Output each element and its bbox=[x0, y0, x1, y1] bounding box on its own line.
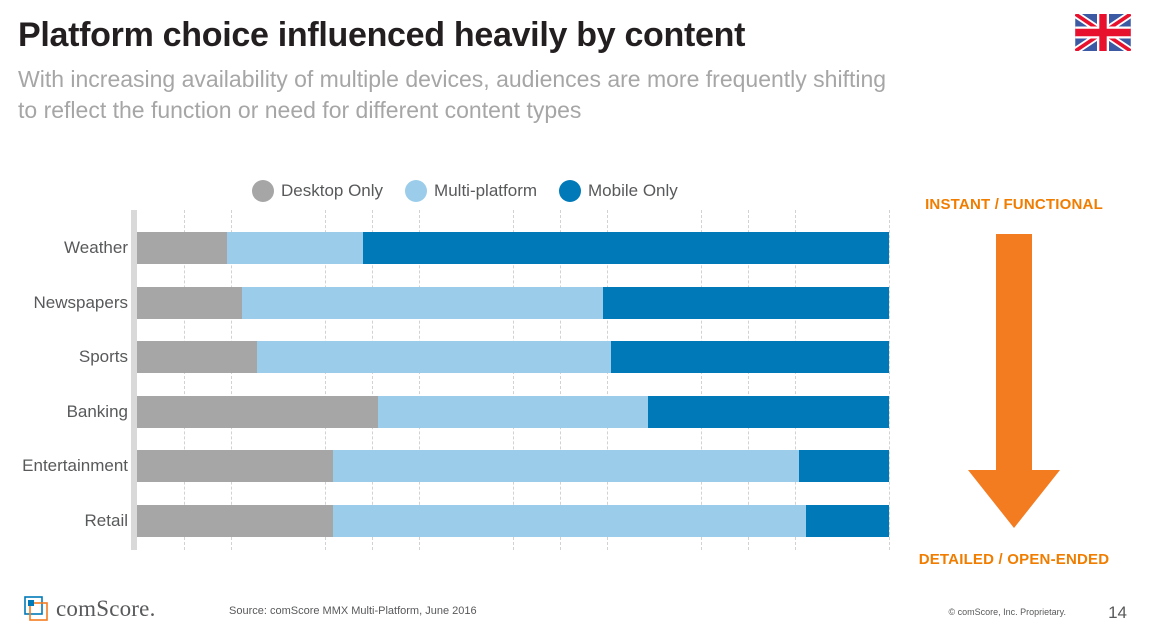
comscore-logo: comScore. bbox=[24, 596, 156, 622]
legend-label-multi-platform: Multi-platform bbox=[434, 181, 537, 201]
bar-segment-desktop-only[interactable] bbox=[137, 232, 227, 264]
bar-segment-multi-platform[interactable] bbox=[242, 287, 603, 319]
y-axis-label-sports: Sports bbox=[0, 347, 128, 367]
annotation-top-label: INSTANT / FUNCTIONAL bbox=[896, 196, 1132, 213]
bar-row bbox=[137, 341, 889, 373]
legend-item-desktop-only[interactable]: Desktop Only bbox=[252, 180, 383, 202]
y-axis-label-weather: Weather bbox=[0, 238, 128, 258]
bar-row bbox=[137, 450, 889, 482]
grid-line bbox=[889, 210, 890, 550]
legend-swatch-multi-platform bbox=[405, 180, 427, 202]
page-subtitle: With increasing availability of multiple… bbox=[18, 64, 1108, 126]
comscore-logo-text: comScore. bbox=[56, 596, 156, 622]
y-axis-label-entertainment: Entertainment bbox=[0, 456, 128, 476]
bar-row bbox=[137, 287, 889, 319]
bar-row bbox=[137, 396, 889, 428]
content-spectrum-annotation: INSTANT / FUNCTIONAL DETAILED / OPEN-END… bbox=[896, 196, 1132, 568]
y-axis-category-labels: WeatherNewspapersSportsBankingEntertainm… bbox=[0, 210, 128, 550]
y-axis-label-banking: Banking bbox=[0, 402, 128, 422]
legend-swatch-mobile-only bbox=[559, 180, 581, 202]
bar-segment-desktop-only[interactable] bbox=[137, 396, 378, 428]
slide: Platform choice influenced heavily by co… bbox=[0, 0, 1149, 636]
bar-segment-mobile-only[interactable] bbox=[806, 505, 889, 537]
down-arrow-icon bbox=[896, 224, 1132, 538]
bar-segment-mobile-only[interactable] bbox=[611, 341, 889, 373]
chart-legend: Desktop Only Multi-platform Mobile Only bbox=[252, 180, 678, 202]
legend-label-mobile-only: Mobile Only bbox=[588, 181, 678, 201]
bar-segment-desktop-only[interactable] bbox=[137, 505, 333, 537]
legend-item-multi-platform[interactable]: Multi-platform bbox=[405, 180, 537, 202]
legend-label-desktop-only: Desktop Only bbox=[281, 181, 383, 201]
subtitle-line-1: With increasing availability of multiple… bbox=[18, 66, 886, 92]
legend-item-mobile-only[interactable]: Mobile Only bbox=[559, 180, 678, 202]
y-axis-label-newspapers: Newspapers bbox=[0, 293, 128, 313]
comscore-logo-icon bbox=[24, 596, 50, 622]
bar-segment-desktop-only[interactable] bbox=[137, 450, 333, 482]
bar-segment-multi-platform[interactable] bbox=[333, 450, 799, 482]
bar-segment-desktop-only[interactable] bbox=[137, 287, 242, 319]
proprietary-note: © comScore, Inc. Proprietary. bbox=[948, 607, 1066, 617]
bar-segment-multi-platform[interactable] bbox=[378, 396, 649, 428]
stacked-bar-chart: WeatherNewspapersSportsBankingEntertainm… bbox=[0, 210, 900, 550]
legend-swatch-desktop-only bbox=[252, 180, 274, 202]
bar-row bbox=[137, 232, 889, 264]
annotation-bottom-label: DETAILED / OPEN-ENDED bbox=[896, 551, 1132, 568]
bar-segment-mobile-only[interactable] bbox=[603, 287, 889, 319]
page-number: 14 bbox=[1108, 603, 1127, 623]
chart-plot-area bbox=[137, 210, 889, 550]
bar-segment-multi-platform[interactable] bbox=[227, 232, 362, 264]
bar-segment-mobile-only[interactable] bbox=[799, 450, 889, 482]
bar-segment-desktop-only[interactable] bbox=[137, 341, 257, 373]
y-axis-label-retail: Retail bbox=[0, 511, 128, 531]
uk-flag-icon bbox=[1075, 14, 1131, 51]
bar-segment-multi-platform[interactable] bbox=[333, 505, 807, 537]
bar-segment-multi-platform[interactable] bbox=[257, 341, 610, 373]
source-note: Source: comScore MMX Multi-Platform, Jun… bbox=[229, 605, 477, 617]
bar-segment-mobile-only[interactable] bbox=[363, 232, 889, 264]
page-title: Platform choice influenced heavily by co… bbox=[18, 16, 745, 55]
subtitle-line-2: to reflect the function or need for diff… bbox=[18, 95, 1108, 126]
bar-row bbox=[137, 505, 889, 537]
bar-segment-mobile-only[interactable] bbox=[648, 396, 889, 428]
